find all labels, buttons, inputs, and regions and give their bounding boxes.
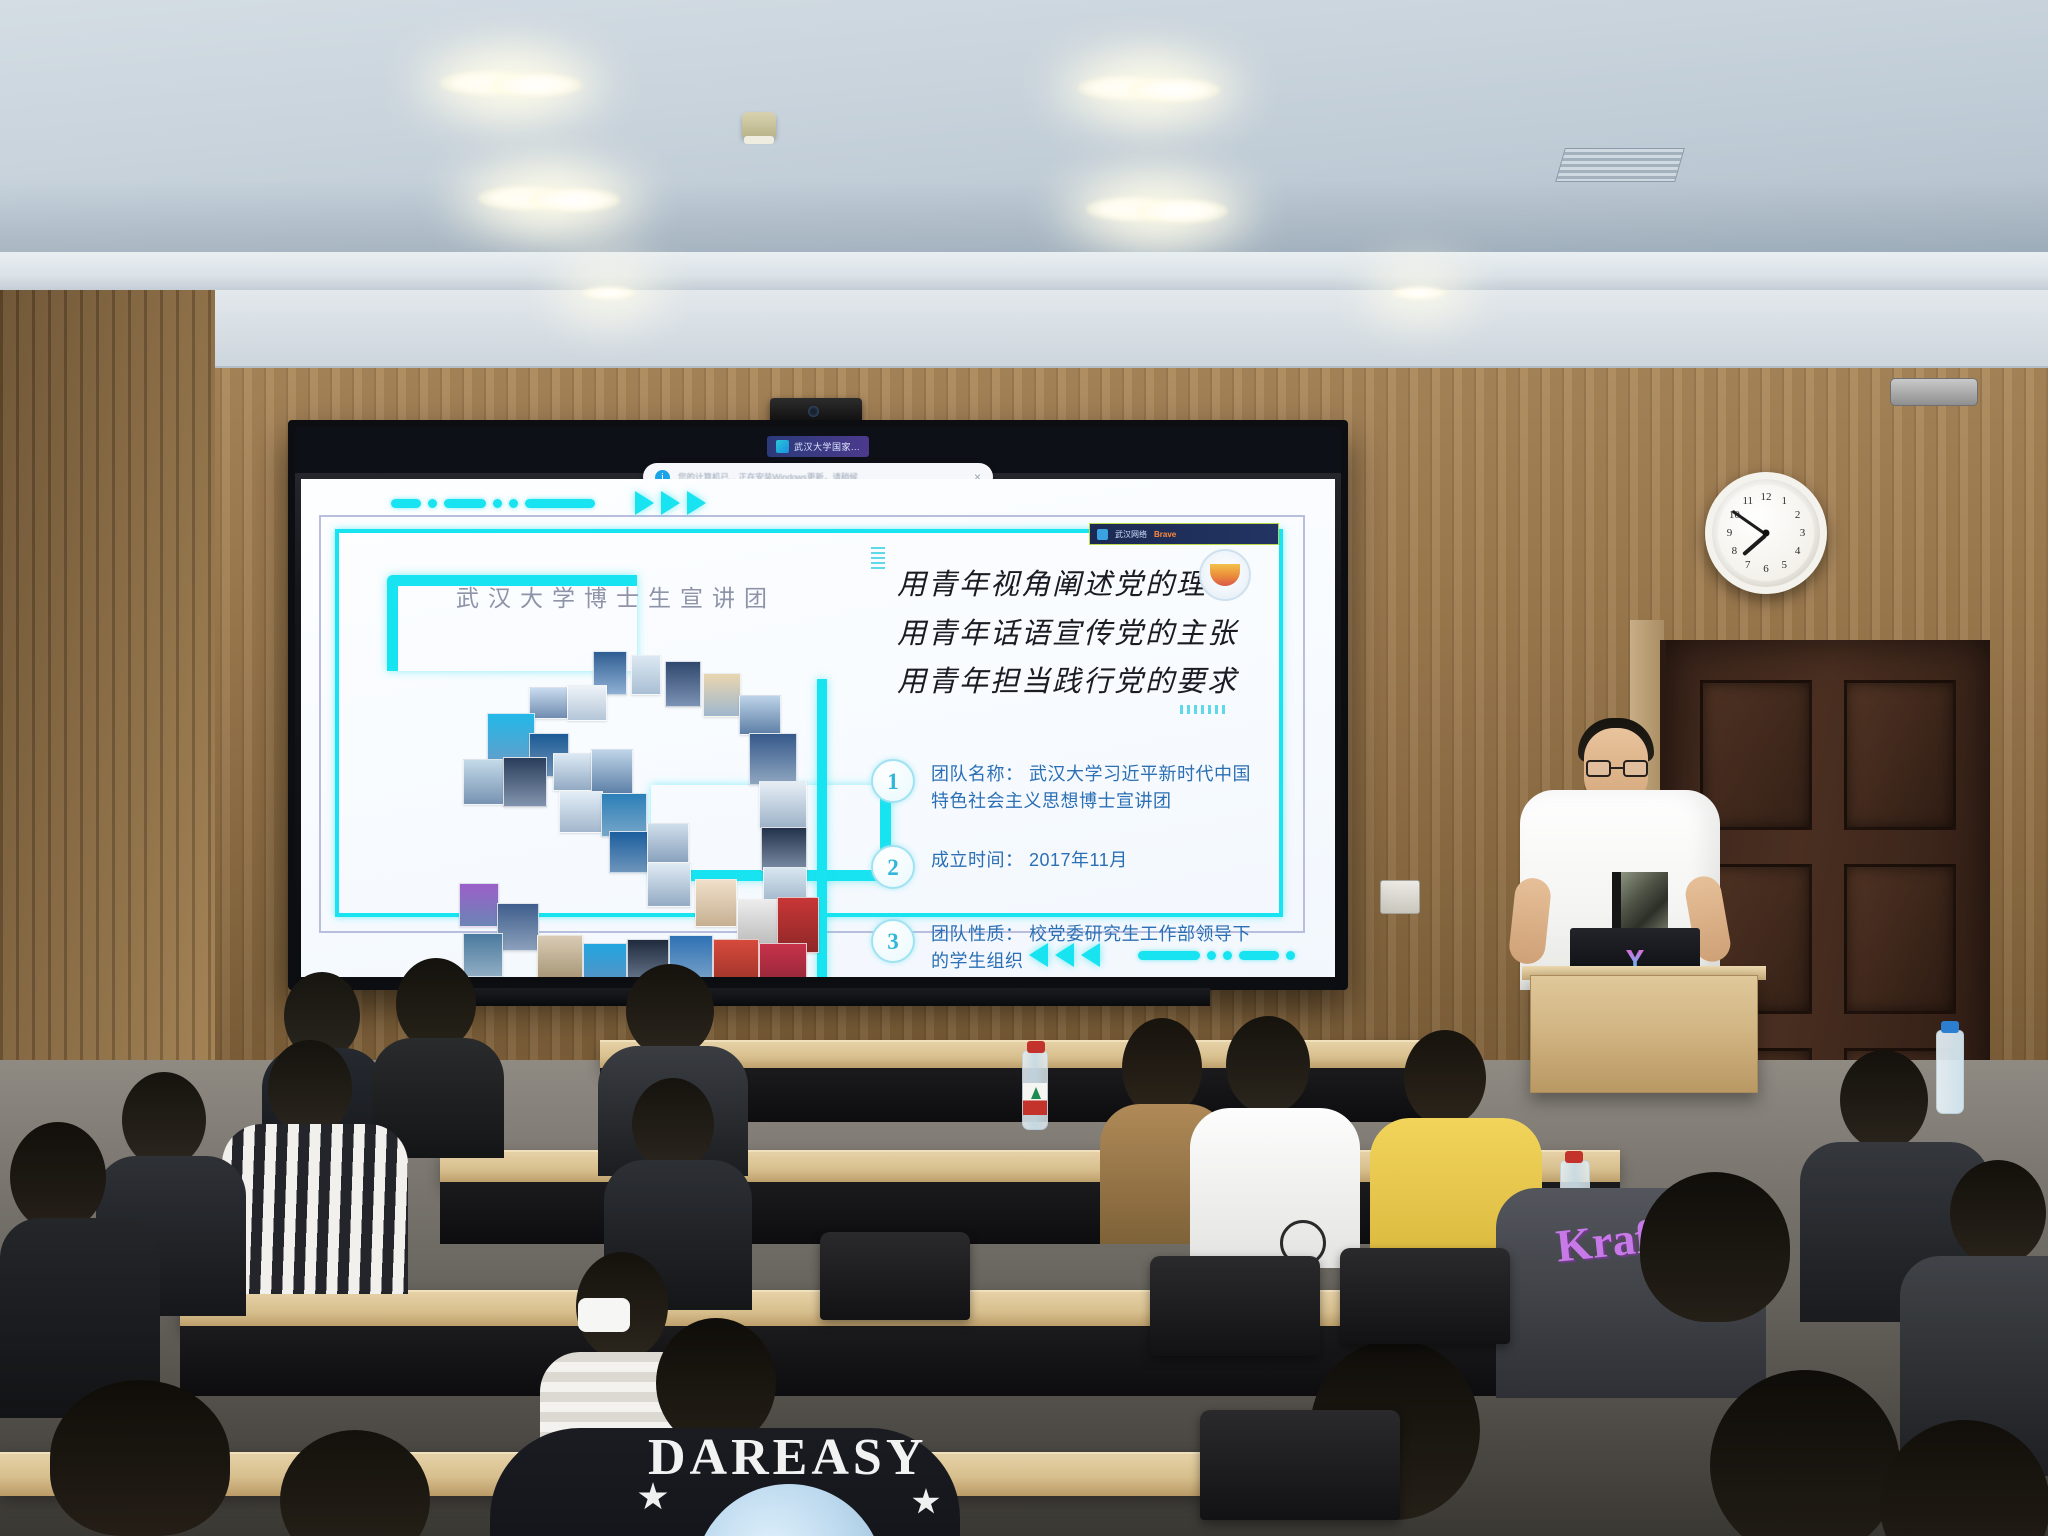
lectern-podium <box>1530 975 1758 1093</box>
mosaic-photo <box>503 757 547 807</box>
bottle-label <box>1023 1083 1047 1115</box>
person-head <box>632 1078 714 1172</box>
deco-tick <box>1180 705 1183 714</box>
person-head <box>1950 1160 2046 1266</box>
person-head <box>396 958 476 1050</box>
water-bottle <box>1022 1050 1048 1130</box>
deco-tick <box>871 567 885 569</box>
chair <box>1200 1410 1400 1520</box>
clock-numeral: 11 <box>1740 493 1756 509</box>
speaker-glasses-icon <box>1586 760 1648 777</box>
deco-arrow-right-icon <box>661 491 680 515</box>
clock-hour-hand <box>1742 533 1767 556</box>
person-head <box>1122 1018 1202 1118</box>
deco-dot <box>493 499 502 508</box>
person-head <box>1404 1030 1486 1126</box>
bullet-line: 团队名称： 武汉大学习近平新时代中国 <box>931 761 1251 788</box>
bullet-line: 团队性质： 校党委研究生工作部领导下 <box>931 921 1251 948</box>
ceiling-light <box>1128 77 1220 103</box>
photo-mosaic <box>441 651 861 977</box>
bullet-text: 团队性质： 校党委研究生工作部领导下 的学生组织 <box>931 919 1251 975</box>
emblem-inner <box>1210 564 1240 586</box>
mosaic-photo <box>761 827 807 871</box>
ceiling-light <box>528 187 620 213</box>
university-emblem-icon <box>1199 549 1251 601</box>
deco-tick <box>1187 705 1190 714</box>
mosaic-photo <box>463 759 505 805</box>
bullet-text: 成立时间： 2017年11月 <box>931 845 1128 874</box>
person-head <box>1226 1016 1310 1114</box>
face-mask-icon <box>578 1298 630 1332</box>
network-badge[interactable]: 武汉网络 Brave <box>1089 523 1279 545</box>
deco-tick <box>871 552 885 554</box>
slide-right-column: 用青年视角阐述党的理论 用青年话语宣传党的主张 用青年担当践行党的要求 1 <box>871 555 1265 977</box>
upper-wall-band <box>0 290 2048 368</box>
mosaic-photo <box>759 943 807 977</box>
wall-speaker <box>1890 378 1978 406</box>
display-stand <box>430 988 1210 1006</box>
slide-deco-top-left <box>391 491 706 515</box>
chair <box>1340 1248 1510 1344</box>
soffit-light <box>582 286 636 300</box>
clock-numeral: 3 <box>1794 525 1810 541</box>
glasses-bridge <box>1611 767 1623 769</box>
person-head <box>268 1040 352 1136</box>
bottle-cap <box>1941 1021 1959 1033</box>
deco-dot <box>428 499 437 508</box>
deco-dot <box>1286 951 1295 960</box>
soffit-light <box>1392 286 1446 300</box>
person-body <box>222 1124 408 1294</box>
deco-tick <box>871 562 885 564</box>
ceiling-light <box>490 72 582 98</box>
lecture-hall-photo: 12 1 2 3 4 5 6 7 8 9 10 11 武汉大学国家... <box>0 0 2048 1536</box>
mosaic-photo <box>739 695 781 735</box>
mosaic-photo <box>537 935 583 977</box>
person-head <box>122 1072 206 1168</box>
os-title-bar: 武汉大学国家... i 您的计算机已... 正在安装Windows更新，请稍候 … <box>295 427 1341 473</box>
mosaic-photo <box>591 749 633 795</box>
deco-tick <box>871 547 885 549</box>
mosaic-photo <box>647 823 689 863</box>
slide-left-column: 武汉大学博士生宣讲团 <box>381 579 851 613</box>
presentation-display[interactable]: 武汉大学国家... i 您的计算机已... 正在安装Windows更新，请稍候 … <box>288 420 1348 990</box>
presentation-slide: 武汉网络 Brave 武汉大学博士生宣讲团 <box>301 479 1335 977</box>
list-item: 1 团队名称： 武汉大学习近平新时代中国 特色社会主义思想博士宣讲团 <box>871 759 1265 815</box>
glasses-lens <box>1623 760 1648 777</box>
door-panel <box>1844 864 1956 1014</box>
deco-tick <box>1208 705 1211 714</box>
bullet-line: 成立时间： 2017年11月 <box>931 847 1128 874</box>
list-item: 2 成立时间： 2017年11月 <box>871 845 1265 889</box>
bullet-text: 团队名称： 武汉大学习近平新时代中国 特色社会主义思想博士宣讲团 <box>931 759 1251 815</box>
smoke-detector-icon <box>742 112 776 138</box>
door-panel <box>1844 680 1956 830</box>
clock-numeral: 9 <box>1722 525 1738 541</box>
mosaic-photo <box>665 661 701 707</box>
person-head <box>1640 1172 1790 1322</box>
mosaic-photo <box>647 863 691 907</box>
speaker-shirt-graphic <box>1612 872 1668 928</box>
bullet-number: 2 <box>871 845 915 889</box>
clock-numeral: 12 <box>1758 489 1774 505</box>
water-bottle <box>1936 1030 1964 1114</box>
mosaic-photo <box>559 791 603 833</box>
slide-bullet-list: 1 团队名称： 武汉大学习近平新时代中国 特色社会主义思想博士宣讲团 2 成立时… <box>871 759 1265 977</box>
badge-brand: Brave <box>1154 530 1176 539</box>
left-wall-panel <box>0 290 215 1080</box>
mosaic-photo <box>609 831 651 873</box>
list-item: 3 团队性质： 校党委研究生工作部领导下 的学生组织 <box>871 919 1265 975</box>
mosaic-photo <box>553 753 593 791</box>
deco-dot <box>509 499 518 508</box>
glasses-lens <box>1586 760 1611 777</box>
person-body <box>1190 1108 1360 1268</box>
deco-arrow-right-icon <box>635 491 654 515</box>
deco-tick <box>1222 705 1225 714</box>
clock-face: 12 1 2 3 4 5 6 7 8 9 10 11 <box>1718 485 1814 581</box>
deco-dash <box>391 499 421 508</box>
mosaic-photo <box>631 655 661 695</box>
clock-numeral: 8 <box>1726 543 1742 559</box>
bottle-cap <box>1027 1041 1045 1053</box>
clock-center-pin <box>1763 530 1770 537</box>
person-head <box>10 1122 106 1232</box>
wall-socket-plate <box>1380 880 1420 914</box>
deco-dash <box>525 499 595 508</box>
mosaic-photo <box>497 903 539 951</box>
mosaic-photo <box>567 685 607 721</box>
deco-tick-row <box>1180 705 1225 714</box>
laptop-logo-icon <box>1626 950 1644 966</box>
mosaic-photo <box>749 733 797 785</box>
slide-subtitle: 武汉大学博士生宣讲团 <box>381 579 851 613</box>
mosaic-photo <box>713 939 759 977</box>
deco-tick-column <box>871 547 885 569</box>
mosaic-photo <box>695 879 737 927</box>
wall-clock: 12 1 2 3 4 5 6 7 8 9 10 11 <box>1705 472 1827 594</box>
chair <box>1150 1256 1320 1356</box>
clock-numeral: 2 <box>1790 507 1806 523</box>
clock-numeral: 6 <box>1758 561 1774 577</box>
door-panel <box>1700 680 1812 830</box>
bullet-line: 的学生组织 <box>931 948 1251 975</box>
ceiling-light <box>1136 198 1228 224</box>
bullet-number: 3 <box>871 919 915 963</box>
badge-label: 武汉网络 <box>1115 529 1147 540</box>
deco-tick <box>1201 705 1204 714</box>
clock-numeral: 5 <box>1776 557 1792 573</box>
bullet-number: 1 <box>871 759 915 803</box>
mosaic-photo <box>759 781 807 829</box>
browser-tab[interactable]: 武汉大学国家... <box>767 436 869 457</box>
tab-favicon-icon <box>776 440 789 453</box>
mosaic-photo <box>487 713 535 761</box>
mosaic-photo <box>703 673 741 717</box>
person-head <box>1840 1050 1928 1150</box>
mosaic-photo <box>463 933 503 977</box>
person-head <box>50 1380 230 1536</box>
deco-tick <box>1215 705 1218 714</box>
chair <box>820 1232 970 1320</box>
deco-dash <box>444 499 486 508</box>
deco-tick <box>1194 705 1197 714</box>
person-head <box>626 964 714 1058</box>
badge-icon <box>1097 529 1108 540</box>
ceiling-vent <box>1555 148 1685 182</box>
mosaic-photo <box>583 943 627 977</box>
headline-line: 用青年话语宣传党的主张 <box>897 610 1265 659</box>
tab-title: 武汉大学国家... <box>794 440 860 453</box>
jacket-graphic-text: DAREASY <box>648 1428 927 1487</box>
headline-line: 用青年担当践行党的要求 <box>897 658 1265 707</box>
deco-arrow-right-icon <box>687 491 706 515</box>
mosaic-photo <box>459 883 499 927</box>
deco-tick <box>871 557 885 559</box>
bottle-cap <box>1565 1151 1583 1163</box>
bullet-line: 特色社会主义思想博士宣讲团 <box>931 788 1251 815</box>
